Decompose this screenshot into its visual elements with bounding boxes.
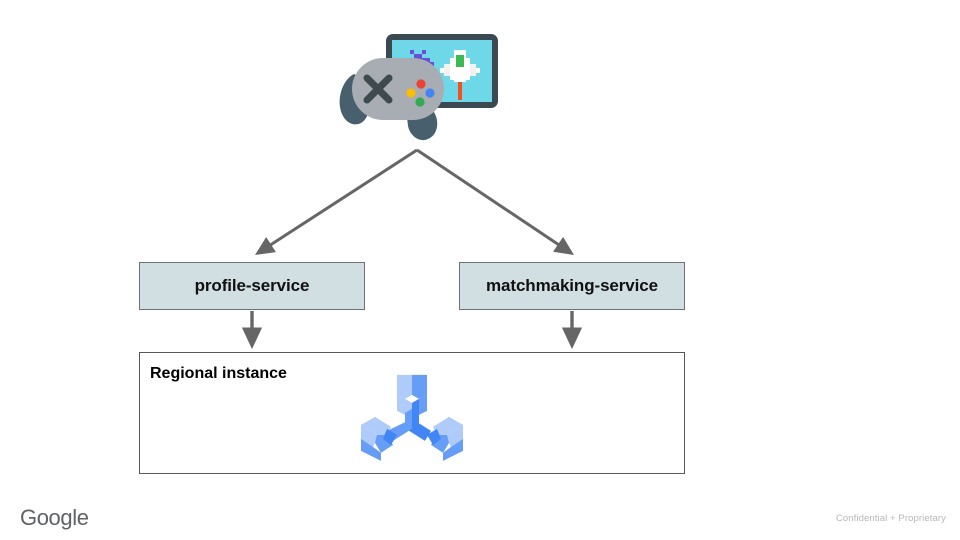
google-kubernetes-engine-logo: [353, 369, 471, 465]
button-red-icon: [416, 79, 425, 88]
service-label: profile-service: [195, 276, 310, 296]
edge-client-to-profile-service: [258, 150, 417, 253]
service-box-matchmaking-service[interactable]: matchmaking-service: [459, 262, 685, 310]
button-blue-icon: [425, 88, 434, 97]
gke-arm-left: [361, 417, 397, 461]
button-green-icon: [415, 97, 424, 106]
confidentiality-note: Confidential + Proprietary: [836, 513, 946, 524]
gke-arm-right: [427, 417, 463, 461]
edge-client-to-matchmaking-service: [417, 150, 571, 253]
slide-canvas: profile-service matchmaking-service Regi…: [0, 0, 960, 540]
game-controller-and-screen-illustration: [336, 28, 506, 148]
regional-instance-title: Regional instance: [150, 365, 287, 383]
service-box-profile-service[interactable]: profile-service: [139, 262, 365, 310]
google-logo: Google: [20, 505, 89, 531]
button-yellow-icon: [406, 88, 415, 97]
regional-instance-container[interactable]: Regional instance: [139, 352, 685, 474]
service-label: matchmaking-service: [486, 276, 658, 296]
